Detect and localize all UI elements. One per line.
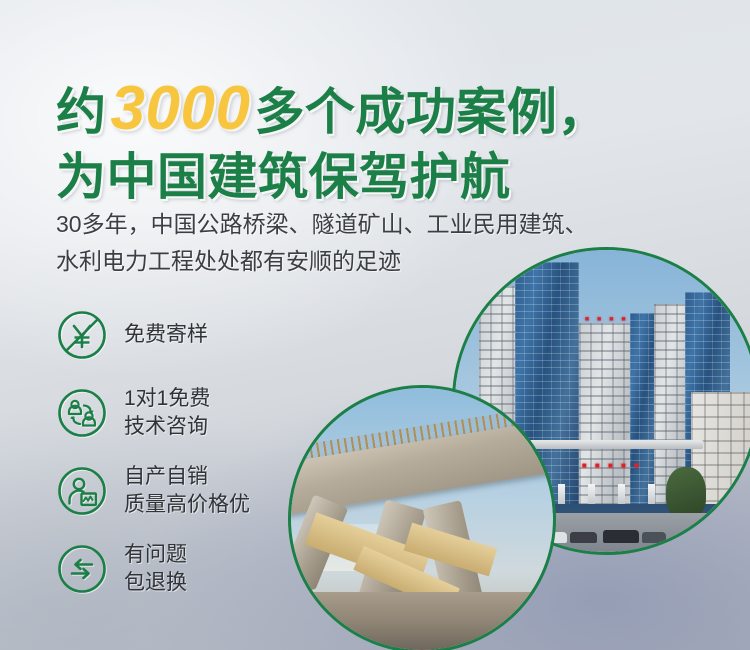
bridge-photo xyxy=(288,385,556,650)
entrance-column xyxy=(648,484,655,504)
construction-ground xyxy=(291,592,553,650)
entrance-column xyxy=(588,484,595,504)
headline-line-1: 约3000多个成功案例， xyxy=(56,78,716,140)
hotel-name-sign: ■ ■ ■ ■ ■ xyxy=(582,461,642,470)
headline: 约3000多个成功案例， 为中国建筑保驾护航 xyxy=(56,78,716,202)
headline-prefix: 约 xyxy=(56,84,107,140)
feature-label: 自产自销 质量高价格优 xyxy=(124,463,250,519)
feature-text-line: 有问题 xyxy=(124,541,187,569)
car xyxy=(570,532,597,543)
feature-text-line: 质量高价格优 xyxy=(124,491,250,519)
tree xyxy=(666,467,705,518)
headline-number: 3000 xyxy=(107,74,255,143)
tower-center-pale xyxy=(579,323,636,504)
bridge-photo-scene xyxy=(291,388,553,650)
return-exchange-icon xyxy=(56,543,108,595)
free-sample-icon xyxy=(56,309,108,361)
feature-text-line: 技术咨询 xyxy=(124,413,210,441)
feature-label: 有问题 包退换 xyxy=(124,541,187,597)
self-production-quality-icon xyxy=(56,465,108,517)
entrance-column xyxy=(618,484,625,504)
feature-text-line: 包退换 xyxy=(124,569,187,597)
feature-text-line: 免费寄样 xyxy=(124,321,208,349)
headline-line-2: 为中国建筑保驾护航 xyxy=(56,152,716,202)
feature-item-free-sample[interactable]: 免费寄样 xyxy=(56,296,356,374)
car xyxy=(603,530,639,543)
entrance-column xyxy=(558,484,565,504)
feature-text-line: 1对1免费 xyxy=(124,385,210,413)
subtitle-line-1: 30多年，中国公路桥梁、隧道矿山、工业民用建筑、 xyxy=(56,206,724,243)
promo-banner: 约3000多个成功案例， 为中国建筑保驾护航 30多年，中国公路桥梁、隧道矿山、… xyxy=(0,0,750,650)
building-roof-sign: ■ ■ ■ ■ xyxy=(585,316,629,323)
headline-suffix: 多个成功案例， xyxy=(254,84,608,140)
feature-text-line: 自产自销 xyxy=(124,463,250,491)
one-on-one-consult-icon xyxy=(56,387,108,439)
car xyxy=(642,532,666,543)
feature-label: 免费寄样 xyxy=(124,321,208,349)
feature-label: 1对1免费 技术咨询 xyxy=(124,385,210,441)
